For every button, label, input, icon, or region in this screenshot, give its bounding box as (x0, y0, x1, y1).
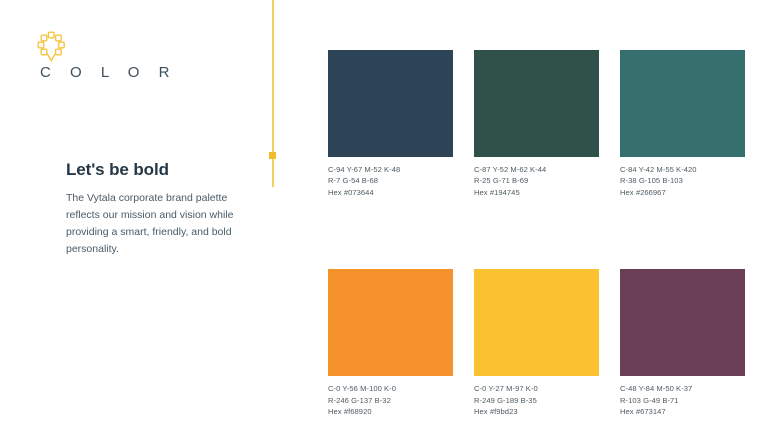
cmyk-value: C-87 Y-52 M-62 K-44 (474, 164, 599, 175)
rgb-value: R-103 G-49 B-71 (620, 395, 745, 406)
color-cell-orange[interactable]: C-0 Y-56 M-100 K-0 R-246 G-137 B-32 Hex … (328, 269, 453, 417)
hex-value: Hex #266967 (620, 187, 745, 198)
cmyk-value: C-0 Y-27 M-97 K-0 (474, 383, 599, 394)
rgb-value: R-25 G-71 B-69 (474, 175, 599, 186)
color-specs: C-0 Y-27 M-97 K-0 R-249 G-189 B-35 Hex #… (474, 383, 599, 417)
cmyk-value: C-94 Y-67 M-52 K-48 (328, 164, 453, 175)
color-swatch[interactable] (328, 269, 453, 376)
divider-dot (269, 152, 276, 159)
rgb-value: R-7 G-54 B-68 (328, 175, 453, 186)
cmyk-value: C-84 Y-42 M-55 K-420 (620, 164, 745, 175)
wordmark-color: C O L O R (40, 64, 177, 81)
rgb-value: R-38 G-105 B-103 (620, 175, 745, 186)
hex-value: Hex #673147 (620, 406, 745, 417)
flower-gem-icon (32, 30, 72, 64)
color-specs: C-0 Y-56 M-100 K-0 R-246 G-137 B-32 Hex … (328, 383, 453, 417)
color-cell-plum[interactable]: C-48 Y-84 M-50 K-37 R-103 G-49 B-71 Hex … (620, 269, 745, 417)
palette-row: C-94 Y-67 M-52 K-48 R-7 G-54 B-68 Hex #0… (328, 50, 740, 198)
palette-row: C-0 Y-56 M-100 K-0 R-246 G-137 B-32 Hex … (328, 269, 740, 417)
cmyk-value: C-48 Y-84 M-50 K-37 (620, 383, 745, 394)
color-swatch[interactable] (328, 50, 453, 157)
color-specs: C-84 Y-42 M-55 K-420 R-38 G-105 B-103 He… (620, 164, 745, 198)
color-cell-golden-yellow[interactable]: C-0 Y-27 M-97 K-0 R-249 G-189 B-35 Hex #… (474, 269, 599, 417)
intro-paragraph: The Vytala corporate brand palette refle… (66, 190, 238, 258)
hex-value: Hex #073644 (328, 187, 453, 198)
hex-value: Hex #194745 (474, 187, 599, 198)
color-swatch[interactable] (620, 50, 745, 157)
color-swatch[interactable] (620, 269, 745, 376)
color-swatch[interactable] (474, 50, 599, 157)
rgb-value: R-249 G-189 B-35 (474, 395, 599, 406)
hex-value: Hex #f9bd23 (474, 406, 599, 417)
color-cell-teal[interactable]: C-84 Y-42 M-55 K-420 R-38 G-105 B-103 He… (620, 50, 745, 198)
hex-value: Hex #f68920 (328, 406, 453, 417)
color-palette-slide: C O L O R Let's be bold The Vytala corpo… (0, 0, 768, 432)
page-title: Let's be bold (66, 160, 169, 180)
color-specs: C-87 Y-52 M-62 K-44 R-25 G-71 B-69 Hex #… (474, 164, 599, 198)
color-swatch[interactable] (474, 269, 599, 376)
color-cell-forest-green[interactable]: C-87 Y-52 M-62 K-44 R-25 G-71 B-69 Hex #… (474, 50, 599, 198)
rgb-value: R-246 G-137 B-32 (328, 395, 453, 406)
color-specs: C-48 Y-84 M-50 K-37 R-103 G-49 B-71 Hex … (620, 383, 745, 417)
palette-grid: C-94 Y-67 M-52 K-48 R-7 G-54 B-68 Hex #0… (328, 50, 740, 417)
color-specs: C-94 Y-67 M-52 K-48 R-7 G-54 B-68 Hex #0… (328, 164, 453, 198)
cmyk-value: C-0 Y-56 M-100 K-0 (328, 383, 453, 394)
color-cell-deep-navy[interactable]: C-94 Y-67 M-52 K-48 R-7 G-54 B-68 Hex #0… (328, 50, 453, 198)
